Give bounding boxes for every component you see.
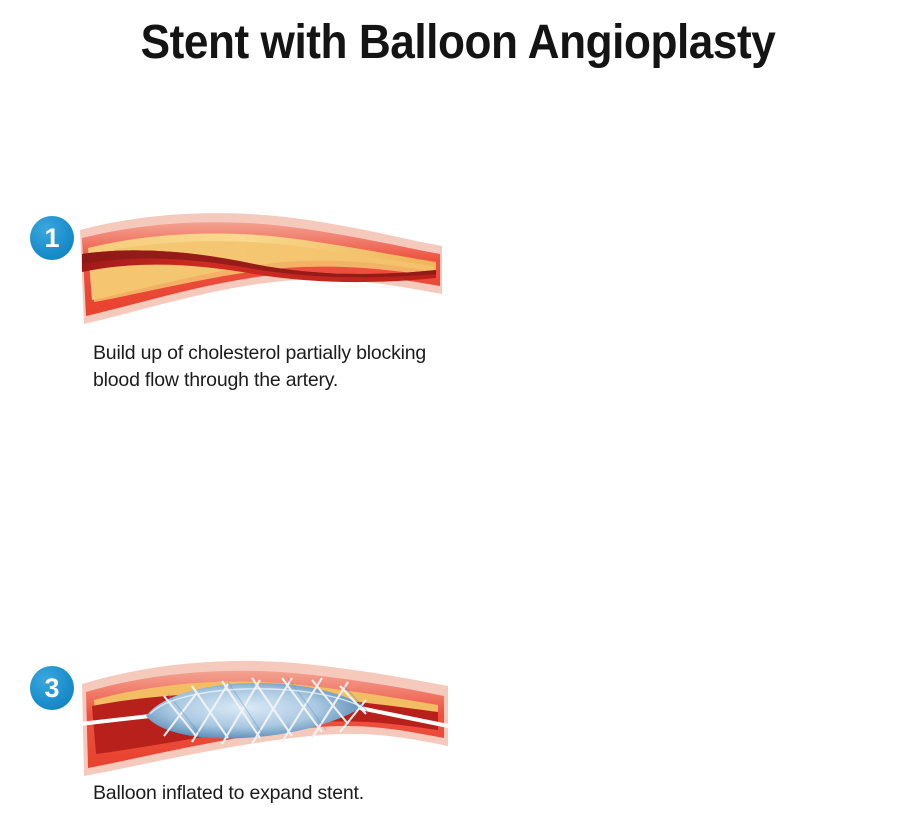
step-panel-2: 2 <box>458 100 916 300</box>
page-title: Stent with Balloon Angioplasty <box>37 14 880 72</box>
artery-with-plaque-illustration <box>78 202 444 330</box>
step-number-badge-3: 3 <box>30 666 74 710</box>
step-panel-4: 4 <box>458 320 916 523</box>
step-panel-1: 1 <box>0 100 458 300</box>
diagram-canvas: Stent with Balloon Angioplasty 1 <box>0 0 916 523</box>
step-number-badge-1: 1 <box>30 216 74 260</box>
balloon-inflated-illustration <box>78 650 450 780</box>
step-panel-3: 3 <box>0 320 458 523</box>
step-caption-3: Balloon inflated to expand stent. <box>93 780 473 807</box>
